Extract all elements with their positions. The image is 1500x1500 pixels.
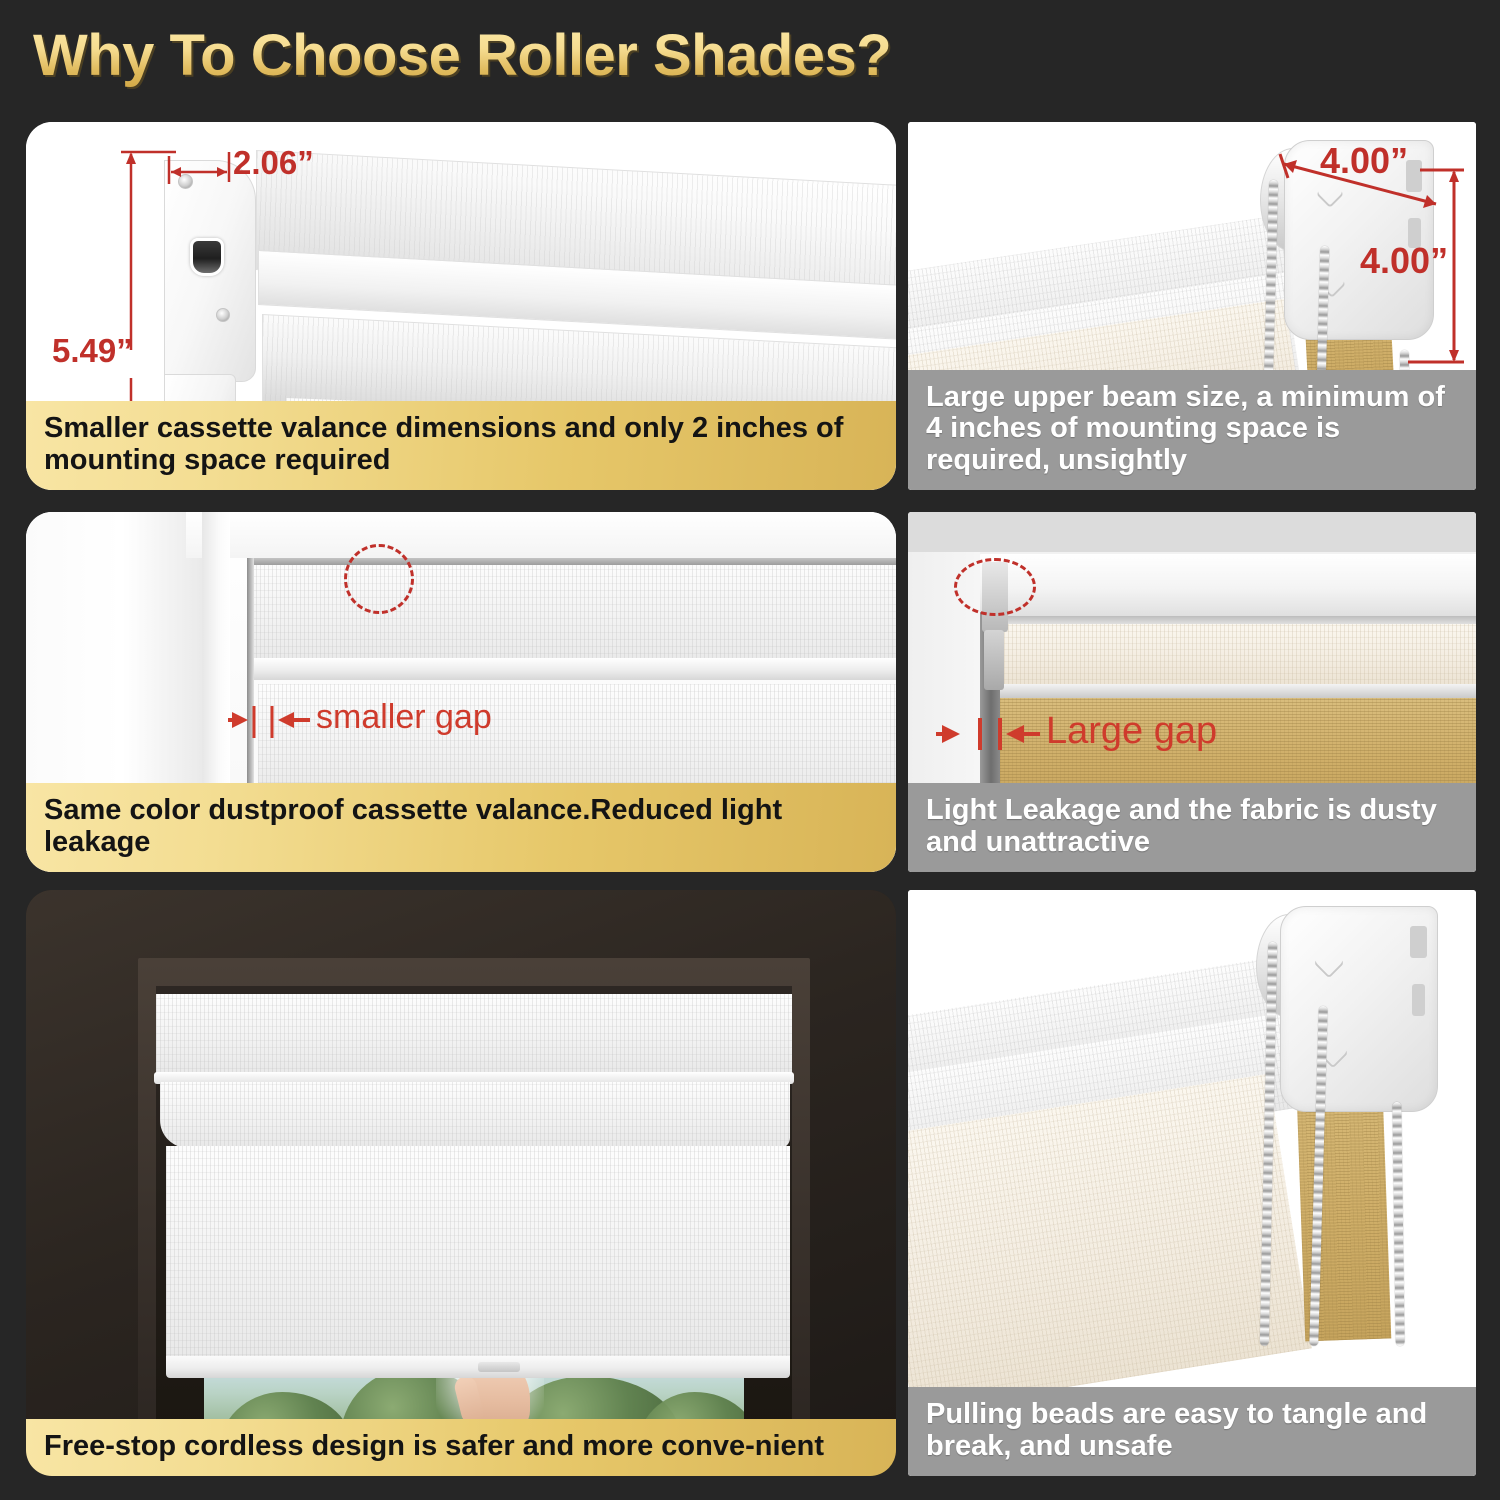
gap-label-4: Large gap <box>1046 710 1217 753</box>
panel-5: Free-stop cordless design is safer and m… <box>26 890 896 1476</box>
panel-4: Large gap Light Leakage and the fabric i… <box>908 512 1476 872</box>
panel-1-caption: Smaller cassette valance dimensions and … <box>26 401 896 490</box>
gap-label-3: smaller gap <box>316 698 492 737</box>
panel-3-caption: Same color dustproof cassette valance.Re… <box>26 783 896 872</box>
panel-4-caption: Light Leakage and the fabric is dusty an… <box>908 783 1476 872</box>
shade-roller-face-5 <box>160 1082 790 1148</box>
page-title: Why To Choose Roller Shades? <box>33 22 891 89</box>
panel-2: 4.00” 4.00” Large upper beam size, a min… <box>908 122 1476 490</box>
dimension-height-label-2: 4.00” <box>1360 240 1448 282</box>
panel-5-caption: Free-stop cordless design is safer and m… <box>26 1419 896 1476</box>
shade-fabric-5 <box>166 1146 790 1362</box>
panel-5-photo <box>26 890 896 1476</box>
valance-5 <box>156 994 792 1076</box>
panel-1: 2.06” 5.49” Smaller cassette valance dim… <box>26 122 896 490</box>
bracket-slot-top-6 <box>1410 926 1427 958</box>
dimension-width-label-2: 4.00” <box>1320 140 1408 182</box>
panel-2-caption: Large upper beam size, a minimum of 4 in… <box>908 370 1476 490</box>
panel-3: smaller gap Same color dustproof cassett… <box>26 512 896 872</box>
panel-6-caption: Pulling beads are easy to tangle and bre… <box>908 1387 1476 1476</box>
hem-grip-5 <box>478 1362 520 1372</box>
bracket-slot-mid-6 <box>1412 984 1425 1016</box>
cream-fabric-panel-6 <box>908 1074 1312 1412</box>
dimension-height-label-1: 5.49” <box>52 332 133 370</box>
infographic-root: Why To Choose Roller Shades? Why To Choo… <box>0 0 1500 1500</box>
panel-6: Pulling beads are easy to tangle and bre… <box>908 890 1476 1476</box>
bead-chain-right-6 <box>1392 1102 1404 1346</box>
dimension-width-label-1: 2.06” <box>233 144 314 182</box>
